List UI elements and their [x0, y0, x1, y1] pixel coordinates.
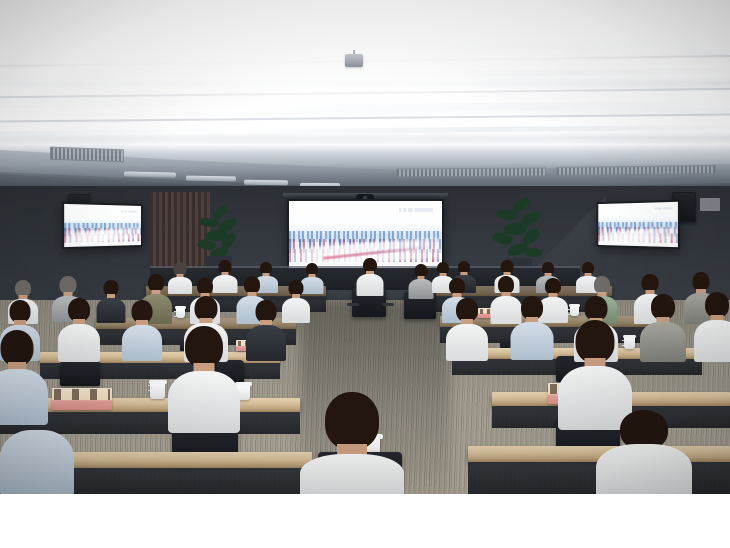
attendee: [694, 292, 730, 360]
attendee-front-center: [356, 258, 383, 294]
air-vent-3: [556, 165, 716, 176]
ceiling-sensor-icon: [345, 54, 363, 67]
office-chair: [60, 360, 100, 386]
attendee: [446, 298, 488, 358]
attendee-foreground: [300, 392, 404, 494]
attendee: [510, 296, 553, 358]
attendee: [282, 280, 310, 322]
attendee: [96, 280, 125, 322]
attendee: [408, 264, 433, 297]
attendee: [58, 298, 100, 360]
name-placard-left: [52, 388, 112, 410]
conference-room-photograph: [0, 0, 730, 494]
screenshot-root: [0, 0, 730, 548]
attendee: [122, 300, 162, 358]
screen-watermark-text: [399, 208, 433, 211]
left-screen-content: [64, 204, 141, 247]
soffit-slot-3: [244, 180, 288, 186]
right-led-screen: [597, 200, 680, 250]
wall-sign-plate: [700, 198, 720, 211]
caption-whitespace: [0, 494, 730, 548]
left-led-screen: [62, 202, 143, 250]
soffit-slot-1: [124, 171, 176, 177]
attendee: [246, 300, 286, 358]
attendee: [0, 330, 48, 420]
air-vent-2: [396, 167, 546, 177]
attendee-foreground: [596, 410, 692, 494]
attendee: [168, 326, 240, 426]
ceiling-glare: [0, 0, 730, 110]
right-screen-content: [598, 202, 678, 247]
attendee: [640, 294, 686, 360]
attendee-foreground: [0, 430, 74, 494]
air-vent-1: [50, 147, 124, 163]
attendee: [558, 320, 632, 422]
soffit-slot-2: [186, 176, 236, 182]
